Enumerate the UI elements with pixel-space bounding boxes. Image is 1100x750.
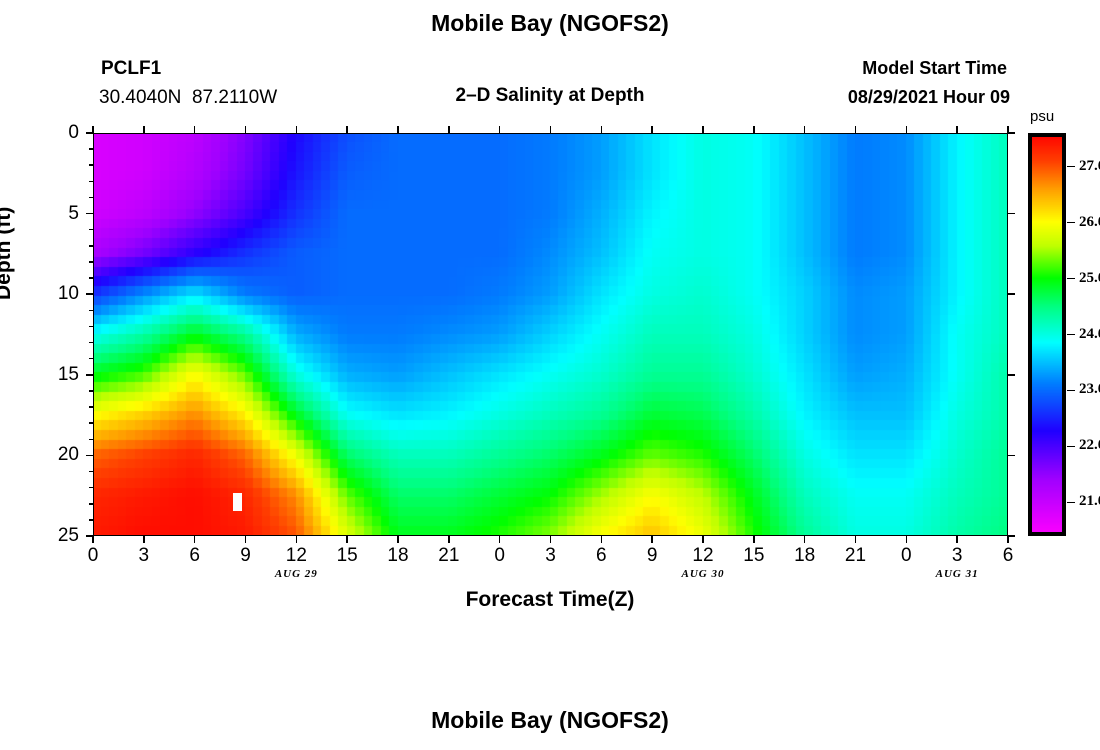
y-axis-tick bbox=[86, 132, 93, 134]
y-axis-minor-tick bbox=[89, 181, 93, 183]
y-axis-minor-tick bbox=[89, 358, 93, 360]
x-axis-tick-label: 15 bbox=[327, 545, 367, 567]
y-axis-minor-tick bbox=[89, 406, 93, 408]
y-axis-tick-label: 20 bbox=[35, 444, 79, 466]
y-axis-minor-tick bbox=[89, 261, 93, 263]
x-axis-tick bbox=[397, 536, 399, 543]
y-axis-tick-right bbox=[1008, 213, 1015, 215]
x-axis-tick bbox=[92, 536, 94, 543]
y-axis-tick-label: 0 bbox=[35, 122, 79, 144]
colorbar-tick bbox=[1067, 446, 1075, 448]
y-axis-tick-label: 15 bbox=[35, 364, 79, 386]
x-axis-tick bbox=[601, 536, 603, 543]
y-axis-tick bbox=[86, 213, 93, 215]
observation-depth-marker bbox=[233, 493, 242, 511]
y-axis-minor-tick bbox=[89, 164, 93, 166]
y-axis-title: Depth (ft) bbox=[0, 207, 16, 300]
x-axis-tick bbox=[804, 536, 806, 543]
colorbar-tick-label: 23.000 bbox=[1079, 381, 1100, 398]
colorbar-units-label: psu bbox=[1030, 108, 1054, 125]
x-axis-tick bbox=[702, 536, 704, 543]
colorbar-tick bbox=[1067, 334, 1075, 336]
x-axis-tick-top bbox=[143, 126, 145, 133]
x-axis-tick bbox=[143, 536, 145, 543]
x-axis-tick-label: 3 bbox=[937, 545, 977, 567]
x-axis-tick bbox=[651, 536, 653, 543]
x-axis-tick-top bbox=[702, 126, 704, 133]
x-axis-tick-label: 12 bbox=[276, 545, 316, 567]
x-axis-tick bbox=[855, 536, 857, 543]
colorbar-tick bbox=[1067, 166, 1075, 168]
x-axis-tick-top bbox=[397, 126, 399, 133]
colorbar-tick-label: 25.000 bbox=[1079, 270, 1100, 287]
y-axis-tick-right bbox=[1008, 535, 1015, 537]
x-axis-tick-top bbox=[651, 126, 653, 133]
x-axis-tick bbox=[245, 536, 247, 543]
x-axis-tick-label: 0 bbox=[886, 545, 926, 567]
y-axis-minor-tick bbox=[89, 229, 93, 231]
y-axis-tick-label: 25 bbox=[35, 525, 79, 547]
x-axis-date-label: AUG 31 bbox=[912, 568, 1002, 580]
model-start-time-label: Model Start Time bbox=[0, 58, 1007, 79]
colorbar-tick-label: 21.000 bbox=[1079, 493, 1100, 510]
x-axis-tick-label: 3 bbox=[124, 545, 164, 567]
y-axis-minor-tick bbox=[89, 277, 93, 279]
x-axis-tick-top bbox=[753, 126, 755, 133]
x-axis-tick-label: 18 bbox=[785, 545, 825, 567]
x-axis-tick bbox=[194, 536, 196, 543]
salinity-depth-chart-page: Mobile Bay (NGOFS2) PCLF1 30.4040N 87.21… bbox=[0, 0, 1100, 750]
x-axis-tick-label: 9 bbox=[226, 545, 266, 567]
x-axis-tick bbox=[346, 536, 348, 543]
colorbar bbox=[1028, 133, 1066, 536]
x-axis-tick-label: 15 bbox=[734, 545, 774, 567]
y-axis-minor-tick bbox=[89, 310, 93, 312]
y-axis-tick-right bbox=[1008, 293, 1015, 295]
x-axis-tick-top bbox=[906, 126, 908, 133]
x-axis-tick-label: 6 bbox=[988, 545, 1028, 567]
x-axis-tick-label: 9 bbox=[632, 545, 672, 567]
x-axis-tick-top bbox=[346, 126, 348, 133]
x-axis-tick-label: 21 bbox=[836, 545, 876, 567]
colorbar-tick-label: 24.000 bbox=[1079, 326, 1100, 343]
x-axis-date-label: AUG 30 bbox=[658, 568, 748, 580]
y-axis-minor-tick bbox=[89, 197, 93, 199]
x-axis-tick bbox=[550, 536, 552, 543]
y-axis-minor-tick bbox=[89, 390, 93, 392]
colorbar-tick bbox=[1067, 278, 1075, 280]
y-axis-minor-tick bbox=[89, 503, 93, 505]
x-axis-tick bbox=[499, 536, 501, 543]
x-axis-tick bbox=[753, 536, 755, 543]
x-axis-tick-top bbox=[194, 126, 196, 133]
x-axis-tick bbox=[448, 536, 450, 543]
heatmap-plot-area bbox=[93, 133, 1008, 536]
colorbar-tick-label: 22.000 bbox=[1079, 437, 1100, 454]
x-axis-tick bbox=[906, 536, 908, 543]
x-axis-tick-label: 0 bbox=[480, 545, 520, 567]
page-title-top: Mobile Bay (NGOFS2) bbox=[0, 10, 1100, 37]
x-axis-tick bbox=[1007, 536, 1009, 543]
y-axis-minor-tick bbox=[89, 471, 93, 473]
x-axis-date-label: AUG 29 bbox=[251, 568, 341, 580]
y-axis-minor-tick bbox=[89, 439, 93, 441]
x-axis-tick-top bbox=[296, 126, 298, 133]
y-axis-tick bbox=[86, 374, 93, 376]
colorbar-tick bbox=[1067, 390, 1075, 392]
y-axis-tick bbox=[86, 455, 93, 457]
x-axis-tick-top bbox=[855, 126, 857, 133]
y-axis-tick-right bbox=[1008, 455, 1015, 457]
x-axis-tick-label: 0 bbox=[73, 545, 113, 567]
x-axis-tick-top bbox=[499, 126, 501, 133]
x-axis-tick-label: 12 bbox=[683, 545, 723, 567]
y-axis-minor-tick bbox=[89, 487, 93, 489]
x-axis-tick-label: 3 bbox=[531, 545, 571, 567]
x-axis-tick-top bbox=[804, 126, 806, 133]
y-axis-tick bbox=[86, 293, 93, 295]
salinity-heatmap-canvas bbox=[93, 133, 1008, 536]
y-axis-minor-tick bbox=[89, 519, 93, 521]
y-axis-minor-tick bbox=[89, 245, 93, 247]
page-title-bottom: Mobile Bay (NGOFS2) bbox=[0, 707, 1100, 734]
x-axis-tick-top bbox=[550, 126, 552, 133]
x-axis-tick-label: 6 bbox=[175, 545, 215, 567]
colorbar-tick-label: 27.000 bbox=[1079, 158, 1100, 175]
x-axis-tick-top bbox=[448, 126, 450, 133]
colorbar-tick-label: 26.000 bbox=[1079, 214, 1100, 231]
y-axis-tick-right bbox=[1008, 132, 1015, 134]
y-axis-minor-tick bbox=[89, 422, 93, 424]
colorbar-canvas bbox=[1028, 133, 1066, 536]
x-axis-tick-label: 6 bbox=[581, 545, 621, 567]
x-axis-tick-label: 21 bbox=[429, 545, 469, 567]
y-axis-tick-label: 10 bbox=[35, 283, 79, 305]
x-axis-title: Forecast Time(Z) bbox=[0, 588, 1100, 612]
y-axis-tick-label: 5 bbox=[35, 203, 79, 225]
y-axis-tick bbox=[86, 535, 93, 537]
colorbar-tick bbox=[1067, 222, 1075, 224]
x-axis-tick bbox=[296, 536, 298, 543]
colorbar-tick bbox=[1067, 502, 1075, 504]
x-axis-tick-top bbox=[956, 126, 958, 133]
x-axis-tick-top bbox=[601, 126, 603, 133]
y-axis-tick-right bbox=[1008, 374, 1015, 376]
y-axis-minor-tick bbox=[89, 326, 93, 328]
x-axis-tick-label: 18 bbox=[378, 545, 418, 567]
y-axis-minor-tick bbox=[89, 148, 93, 150]
y-axis-minor-tick bbox=[89, 342, 93, 344]
x-axis-tick-top bbox=[245, 126, 247, 133]
x-axis-tick bbox=[956, 536, 958, 543]
model-start-time-value: 08/29/2021 Hour 09 bbox=[0, 87, 1010, 108]
